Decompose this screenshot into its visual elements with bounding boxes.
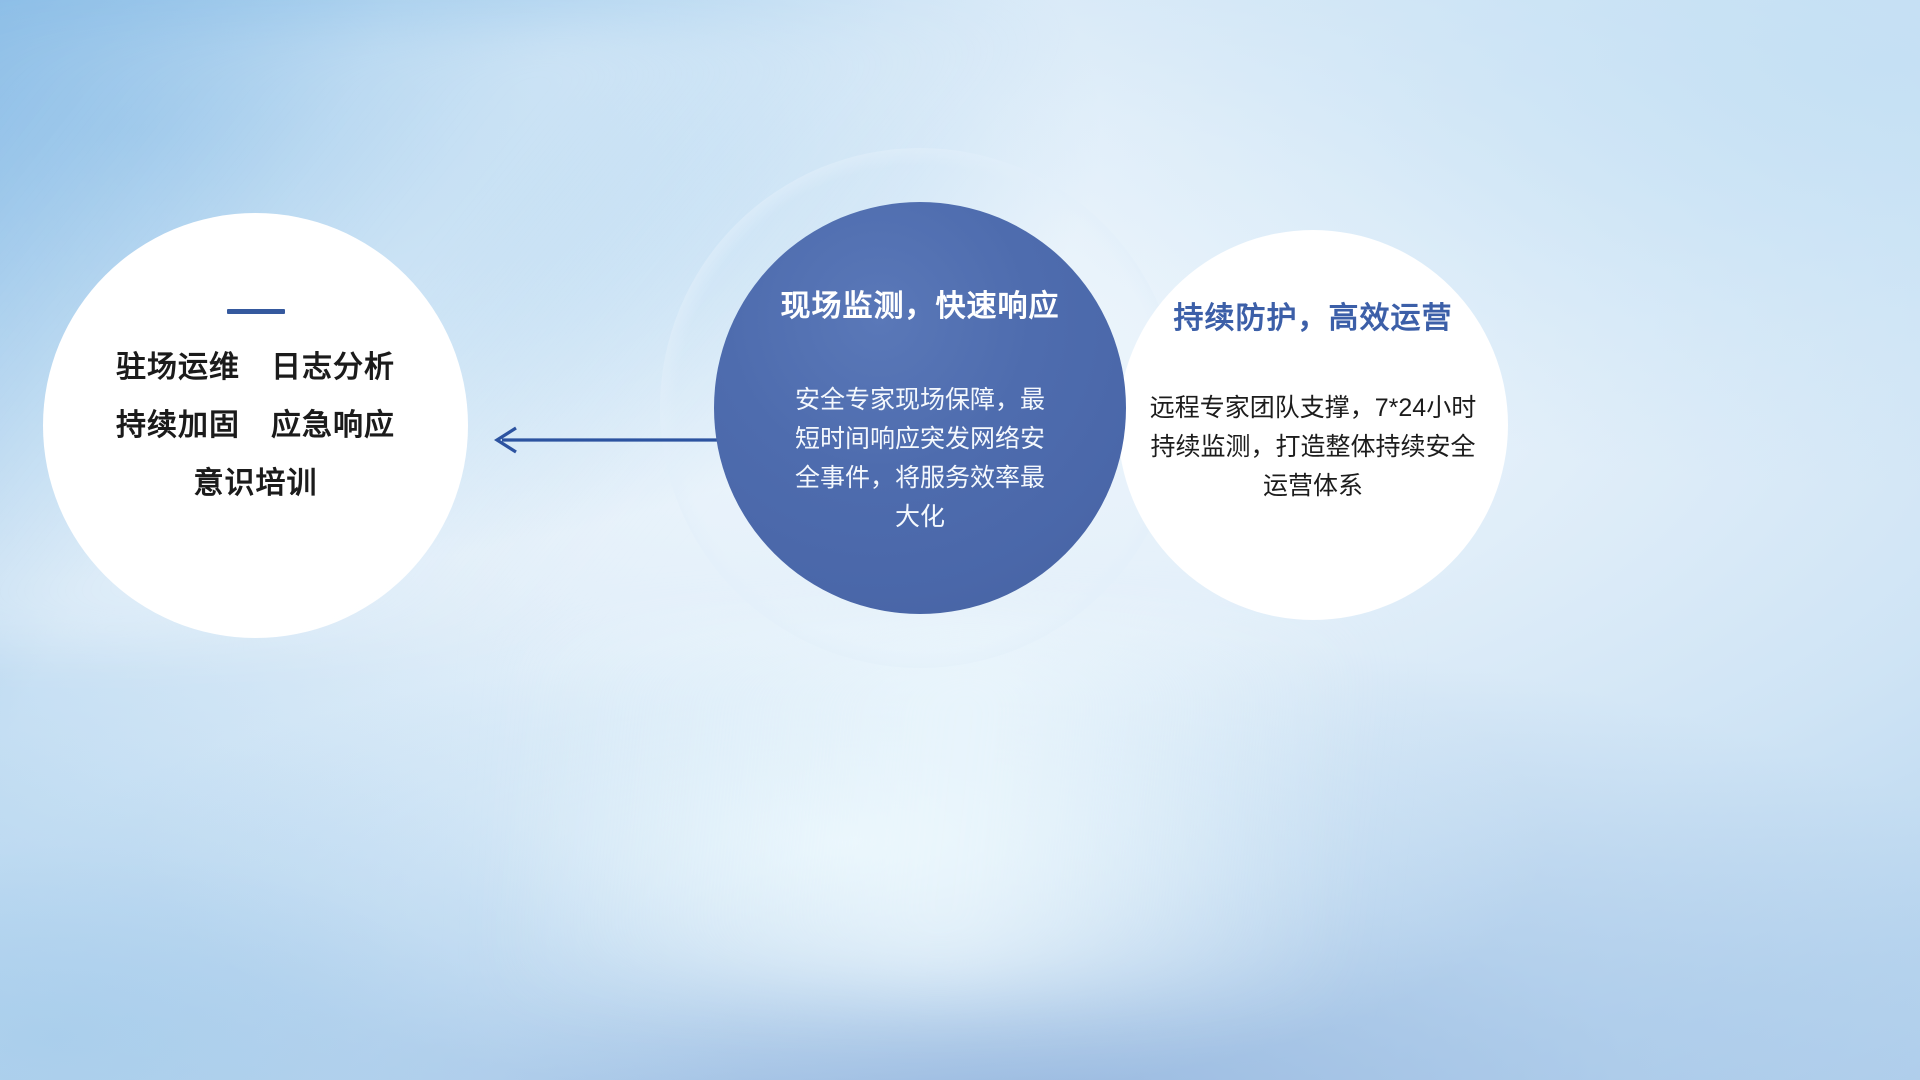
capability-line-1: 驻场运维 日志分析 (116, 353, 395, 383)
continuous-protection-body: 远程专家团队支撑，7*24小时持续监测，打造整体持续安全运营体系 (1141, 389, 1485, 506)
continuous-protection-title: 持续防护，高效运营 (1174, 302, 1453, 335)
diagram-canvas: 驻场运维 日志分析 持续加固 应急响应 意识培训 持续防护，高效运营 远程专家团… (0, 0, 1920, 1080)
capabilities-circle[interactable]: 驻场运维 日志分析 持续加固 应急响应 意识培训 (43, 213, 468, 638)
continuous-protection-content: 持续防护，高效运营 远程专家团队支撑，7*24小时持续监测，打造整体持续安全运营… (1118, 230, 1508, 620)
capability-line-2: 持续加固 应急响应 (116, 411, 395, 441)
capability-line-3: 意识培训 (194, 469, 318, 499)
continuous-protection-circle[interactable]: 持续防护，高效运营 远程专家团队支撑，7*24小时持续监测，打造整体持续安全运营… (1118, 230, 1508, 620)
onsite-monitoring-title: 现场监测，快速响应 (781, 290, 1060, 323)
left-pointing-arrow (480, 415, 720, 465)
capabilities-circle-content: 驻场运维 日志分析 持续加固 应急响应 意识培训 (43, 213, 468, 638)
arrow-svg (480, 415, 720, 465)
onsite-monitoring-body: 安全专家现场保障，最短时间响应突发网络安全事件，将服务效率最大化 (786, 381, 1054, 537)
onsite-monitoring-circle[interactable]: 现场监测，快速响应 安全专家现场保障，最短时间响应突发网络安全事件，将服务效率最… (714, 202, 1126, 614)
background-streak-2 (499, 626, 1497, 993)
horizontal-dash-icon (227, 309, 285, 314)
onsite-monitoring-content: 现场监测，快速响应 安全专家现场保障，最短时间响应突发网络安全事件，将服务效率最… (714, 202, 1126, 614)
